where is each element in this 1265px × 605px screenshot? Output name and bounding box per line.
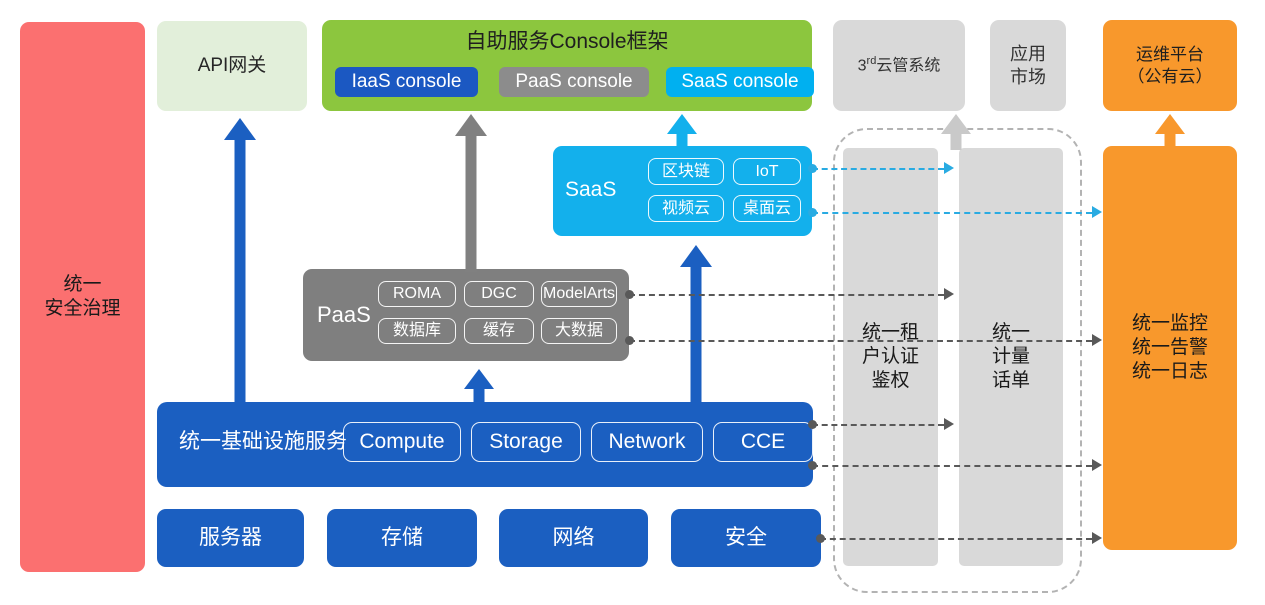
- arrowhead-paas-to-auth: [944, 288, 954, 300]
- dashed-line-infra-to-auth: [812, 424, 944, 426]
- arrow-infra-to-saas: [680, 245, 712, 403]
- dashed-line-saas-to-ops: [812, 212, 1092, 214]
- dashed-line-paas-to-ops: [629, 340, 1092, 342]
- unified-infrastructure-service-bar: 统一基础设施服务 Compute Storage Network CCE: [157, 402, 813, 487]
- arrow-infra-to-paas: [464, 369, 494, 403]
- saas-item-iot[interactable]: IoT: [733, 158, 801, 185]
- saas-console-chip[interactable]: SaaS console: [666, 67, 814, 97]
- dashed-line-infra-to-ops: [812, 465, 1092, 467]
- paas-item-modelarts[interactable]: ModelArts: [541, 281, 617, 307]
- arrow-saas-to-console: [667, 114, 697, 150]
- arrow-to-ops-platform: [1155, 114, 1185, 150]
- unified-tenant-auth-column: 统一租 户认证 鉴权: [843, 148, 938, 566]
- paas-item-bigdata[interactable]: 大数据: [541, 318, 617, 344]
- resource-box-security[interactable]: 安全: [671, 509, 821, 567]
- saas-panel: SaaS 区块链 IoT 视频云 桌面云: [553, 146, 812, 236]
- dashed-line-resource-to-ops: [820, 538, 1092, 540]
- resource-box-server[interactable]: 服务器: [157, 509, 304, 567]
- infra-item-storage[interactable]: Storage: [471, 422, 581, 462]
- resource-box-storage[interactable]: 存储: [327, 509, 477, 567]
- architecture-diagram: 统一 安全治理 API网关 自助服务Console框架 IaaS console…: [0, 0, 1265, 605]
- paas-item-cache[interactable]: 缓存: [464, 318, 534, 344]
- unified-security-governance-column: 统一 安全治理: [20, 22, 145, 572]
- paas-item-database[interactable]: 数据库: [378, 318, 456, 344]
- arrowhead-saas-to-auth: [944, 162, 954, 174]
- third-party-label: 3rd云管系统: [858, 55, 941, 76]
- saas-item-blockchain[interactable]: 区块链: [648, 158, 724, 185]
- paas-item-dgc[interactable]: DGC: [464, 281, 534, 307]
- arrow-to-third-party-cloud: [941, 114, 971, 150]
- arrowhead-infra-to-auth: [944, 418, 954, 430]
- paas-panel: PaaS ROMA DGC ModelArts 数据库 缓存 大数据: [303, 269, 629, 361]
- saas-panel-label: SaaS: [565, 177, 616, 203]
- self-service-console-frame: 自助服务Console框架 IaaS console PaaS console …: [322, 20, 812, 111]
- arrowhead-paas-to-ops: [1092, 334, 1102, 346]
- saas-item-desktop-cloud[interactable]: 桌面云: [733, 195, 801, 222]
- ops-platform-public-cloud-box: 运维平台 （公有云）: [1103, 20, 1237, 111]
- arrow-paas-to-console: [455, 114, 487, 272]
- infrastructure-label: 统一基础设施服务: [179, 429, 347, 455]
- arrowhead-infra-to-ops: [1092, 459, 1102, 471]
- ordinal-superscript: rd: [867, 55, 877, 67]
- api-gateway-box: API网关: [157, 21, 307, 111]
- iaas-console-chip[interactable]: IaaS console: [335, 67, 478, 97]
- infra-item-network[interactable]: Network: [591, 422, 703, 462]
- paas-console-chip[interactable]: PaaS console: [499, 67, 649, 97]
- arrowhead-saas-to-ops: [1092, 206, 1102, 218]
- dashed-line-paas-to-auth: [629, 294, 944, 296]
- arrowhead-resource-to-ops: [1092, 532, 1102, 544]
- infra-item-cce[interactable]: CCE: [713, 422, 813, 462]
- arrow-infra-to-api-gateway: [224, 118, 256, 403]
- unified-metering-billing-column: 统一 计量 话单: [959, 148, 1063, 566]
- application-market-box: 应用 市场: [990, 20, 1066, 111]
- infra-item-compute[interactable]: Compute: [343, 422, 461, 462]
- unified-monitoring-alarm-log-column: 统一监控 统一告警 统一日志: [1103, 146, 1237, 550]
- resource-box-network[interactable]: 网络: [499, 509, 648, 567]
- paas-panel-label: PaaS: [317, 301, 371, 329]
- console-frame-title: 自助服务Console框架: [322, 29, 812, 55]
- saas-item-video-cloud[interactable]: 视频云: [648, 195, 724, 222]
- paas-item-roma[interactable]: ROMA: [378, 281, 456, 307]
- dashed-line-saas-to-auth: [812, 168, 944, 170]
- third-party-cloud-management-box: 3rd云管系统: [833, 20, 965, 111]
